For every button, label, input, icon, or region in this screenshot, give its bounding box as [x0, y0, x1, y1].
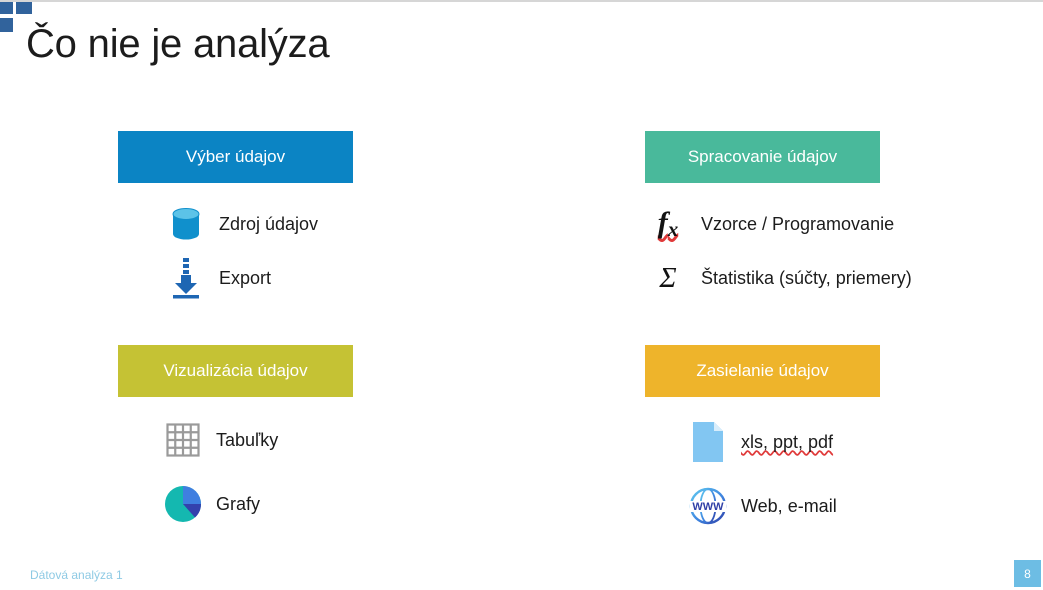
- www-globe-icon: WWW: [685, 484, 731, 528]
- list-item-label: Export: [219, 268, 271, 289]
- database-cylinder-icon: [163, 202, 209, 246]
- sigma-glyph: Σ: [659, 264, 676, 293]
- block-header-spracovanie-udajov[interactable]: Spracovanie údajov: [645, 131, 880, 183]
- block-spracovanie-udajov: Spracovanie údajov fx Vzorce / Programov…: [645, 131, 912, 309]
- list-item[interactable]: Zdroj údajov: [163, 201, 353, 247]
- block-items-vyber-udajov: Zdroj údajov Export: [163, 201, 353, 301]
- block-items-vizualizacia-udajov: Tabuľky Grafy: [160, 417, 353, 527]
- footer-label: Dátová analýza 1: [30, 568, 123, 582]
- block-zasielanie-udajov: Zasielanie údajov xls, ppt, pdf: [645, 345, 880, 547]
- list-item[interactable]: Export: [163, 255, 353, 301]
- fx-sub-glyph: x: [668, 217, 679, 241]
- block-header-vyber-udajov[interactable]: Výber údajov: [118, 131, 353, 183]
- table-grid-icon: [160, 418, 206, 462]
- fx-formula-icon: fx: [645, 202, 691, 246]
- list-item[interactable]: Grafy: [160, 481, 353, 527]
- block-vyber-udajov: Výber údajov Zdroj údajov: [118, 131, 353, 309]
- list-item[interactable]: xls, ppt, pdf: [685, 419, 880, 465]
- list-item-label: Štatistika (súčty, priemery): [701, 268, 912, 289]
- logo-square-top-right: [16, 2, 32, 14]
- page-title: Čo nie je analýza: [26, 22, 329, 66]
- sigma-sum-icon: Σ: [645, 256, 691, 300]
- logo-square-top-left: [0, 2, 13, 14]
- top-divider: [0, 0, 1043, 2]
- list-item-label: Web, e-mail: [741, 496, 837, 517]
- list-item[interactable]: WWW Web, e-mail: [685, 483, 880, 529]
- pie-chart-icon: [160, 482, 206, 526]
- list-item-label: Grafy: [216, 494, 260, 515]
- fx-main-glyph: f: [658, 206, 668, 239]
- list-item[interactable]: Tabuľky: [160, 417, 353, 463]
- list-item[interactable]: Σ Štatistika (súčty, priemery): [645, 255, 912, 301]
- block-header-zasielanie-udajov[interactable]: Zasielanie údajov: [645, 345, 880, 397]
- www-label: WWW: [692, 501, 724, 513]
- list-item-label: Tabuľky: [216, 430, 278, 451]
- list-item-label: Zdroj údajov: [219, 214, 318, 235]
- download-export-arrow-icon: [163, 256, 209, 300]
- block-items-zasielanie-udajov: xls, ppt, pdf: [685, 419, 880, 529]
- document-file-icon: [685, 420, 731, 464]
- logo-square-bottom-left: [0, 18, 13, 32]
- list-item-label: Vzorce / Programovanie: [701, 214, 894, 235]
- list-item[interactable]: fx Vzorce / Programovanie: [645, 201, 912, 247]
- block-items-spracovanie-udajov: fx Vzorce / Programovanie Σ Štatistika (…: [645, 201, 912, 301]
- list-item-label: xls, ppt, pdf: [741, 432, 833, 453]
- slide-canvas: Čo nie je analýza Výber údajov Zdroj úda…: [0, 0, 1043, 590]
- block-header-vizualizacia-udajov[interactable]: Vizualizácia údajov: [118, 345, 353, 397]
- block-vizualizacia-udajov: Vizualizácia údajov: [118, 345, 353, 545]
- page-number-badge: 8: [1014, 560, 1041, 587]
